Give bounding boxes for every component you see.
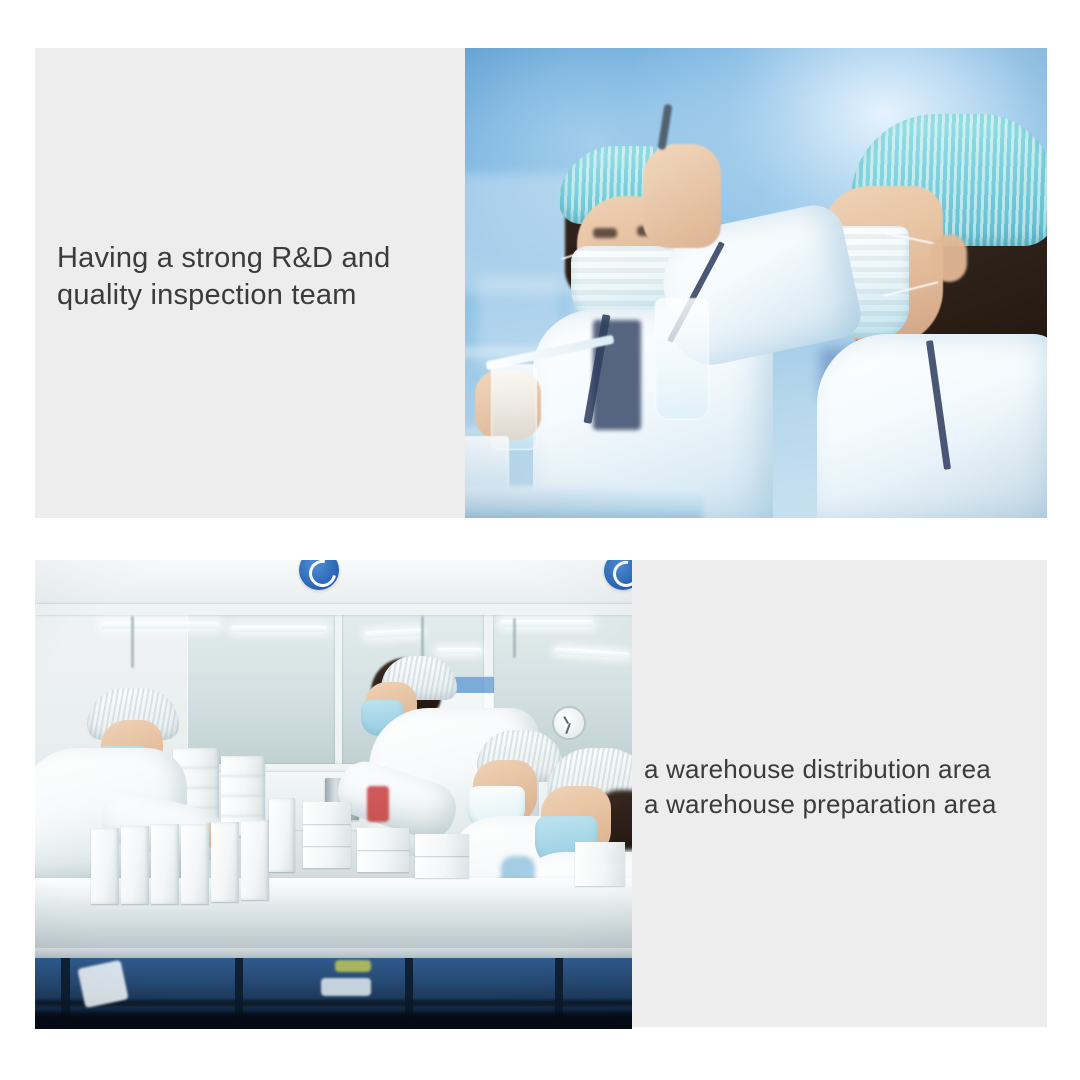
warehouse-photo (35, 560, 632, 1029)
rnd-caption: Having a strong R&D and quality inspecti… (57, 240, 390, 314)
table-carton-3 (151, 824, 179, 904)
ceiling-light-6 (437, 648, 481, 654)
table-carton-14 (575, 842, 625, 864)
table-carton-1 (91, 828, 119, 904)
hanging-hook-right (513, 618, 516, 658)
table-carton-6 (241, 820, 269, 900)
table-carton-4 (181, 824, 209, 904)
table-carton-5 (211, 822, 239, 902)
carton-stack-mid-6 (221, 776, 265, 796)
under-table-shelf-rail (35, 1000, 632, 1006)
rnd-lab-photo (465, 48, 1047, 518)
table-carton-tall-center (269, 798, 295, 872)
table-carton-8 (303, 824, 351, 846)
wall-mullion-vertical-1 (335, 612, 342, 770)
under-table-item (321, 978, 371, 996)
warehouse-caption: a warehouse distribution area a warehous… (644, 752, 997, 822)
table-carton-2 (121, 826, 149, 904)
ceiling-light-1 (101, 622, 219, 629)
table-carton-11 (357, 828, 409, 850)
table-carton-13 (415, 834, 469, 856)
table-carton-9 (303, 802, 351, 824)
table-carton-10 (357, 850, 409, 872)
floor-shadow (35, 1012, 632, 1029)
table-carton-7 (303, 846, 351, 868)
sample-vial (655, 298, 709, 420)
hanging-cord-mid (421, 616, 424, 660)
hanging-cord-left (131, 616, 134, 668)
table-carton-15 (575, 864, 625, 886)
ceiling-light-2 (231, 626, 327, 632)
under-table-green-tape (335, 960, 371, 972)
worker-second-red-badge (367, 786, 389, 822)
wall-clock-icon (552, 706, 586, 740)
technician-right-ear (931, 234, 967, 282)
carton-stack-mid-7 (221, 796, 265, 816)
wall-header-beam (35, 604, 632, 615)
lab-bench (465, 486, 703, 518)
technician-left-eye-left (593, 228, 617, 238)
technician-right-hand (643, 144, 721, 248)
carton-stack-mid-5 (221, 756, 265, 776)
table-carton-12 (415, 856, 469, 878)
